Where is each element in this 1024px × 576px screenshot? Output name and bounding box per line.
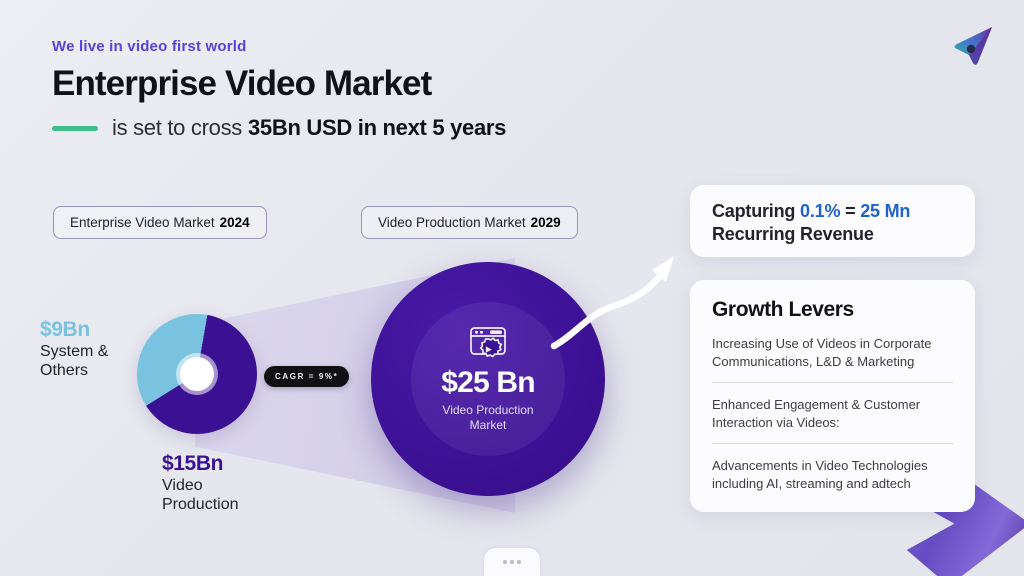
capture-line-2: Recurring Revenue	[712, 223, 953, 246]
donut-chart	[137, 314, 257, 434]
growth-levers-card: Growth Levers Increasing Use of Videos i…	[690, 280, 975, 512]
pill-label: Video Production Market	[378, 215, 526, 230]
subtitle-bold: 35Bn USD in next 5 years	[248, 115, 506, 141]
donut-center-hole	[180, 357, 214, 391]
circle-caption: Video Production Market	[442, 403, 533, 432]
pill-video-production-market[interactable]: Video Production Market 2029	[361, 206, 578, 239]
pill-year: 2029	[531, 215, 561, 230]
capture-line-1: Capturing 0.1% = 25 Mn	[712, 200, 953, 223]
dot-icon	[503, 560, 507, 564]
capture-prefix: Capturing	[712, 201, 795, 221]
pill-enterprise-video-market[interactable]: Enterprise Video Market 2024	[53, 206, 267, 239]
capture-equals: =	[845, 201, 855, 221]
circle-caption-line2: Market	[442, 418, 533, 433]
dot-icon	[510, 560, 514, 564]
pill-label: Enterprise Video Market	[70, 215, 215, 230]
donut-label-line2: Others	[40, 362, 108, 381]
donut-label-line2: Production	[162, 496, 239, 515]
subtitle-row: is set to cross 35Bn USD in next 5 years	[52, 115, 506, 141]
circle-caption-line1: Video Production	[442, 403, 533, 418]
growth-lever-item: Advancements in Video Technologies inclu…	[712, 444, 953, 504]
brand-logo	[948, 22, 1000, 70]
page-header: We live in video first world Enterprise …	[52, 38, 506, 141]
bottom-drag-handle[interactable]	[484, 548, 540, 576]
donut-label-line1: System &	[40, 343, 108, 362]
growth-lever-item: Enhanced Engagement & Customer Interacti…	[712, 383, 953, 443]
brand-arrow-logo	[948, 22, 1000, 70]
donut-label-line1: Video	[162, 477, 239, 496]
donut-label-amount: $15Bn	[162, 452, 239, 477]
circle-inner-ring: $25 Bn Video Production Market	[411, 302, 565, 456]
circle-amount: $25 Bn	[441, 368, 535, 398]
browser-play-gear-icon	[465, 325, 511, 363]
pill-year: 2024	[220, 215, 250, 230]
growth-levers-title: Growth Levers	[712, 298, 953, 322]
donut-label-system-others: $9Bn System & Others	[40, 318, 108, 381]
subtitle-light: is set to cross	[112, 115, 242, 141]
eyebrow-text: We live in video first world	[52, 38, 506, 55]
growth-arrow-icon	[548, 248, 698, 368]
donut-label-amount: $9Bn	[40, 318, 108, 343]
growth-lever-item: Increasing Use of Videos in Corporate Co…	[712, 322, 953, 382]
page-title: Enterprise Video Market	[52, 66, 506, 101]
cagr-badge: CAGR = 9%*	[264, 366, 349, 387]
capturing-revenue-card: Capturing 0.1% = 25 Mn Recurring Revenue	[690, 185, 975, 257]
capture-percent: 0.1%	[800, 201, 840, 221]
dot-icon	[517, 560, 521, 564]
donut-label-video-production: $15Bn Video Production	[162, 452, 239, 515]
green-dash-divider	[52, 126, 98, 131]
capture-value: 25 Mn	[860, 201, 910, 221]
